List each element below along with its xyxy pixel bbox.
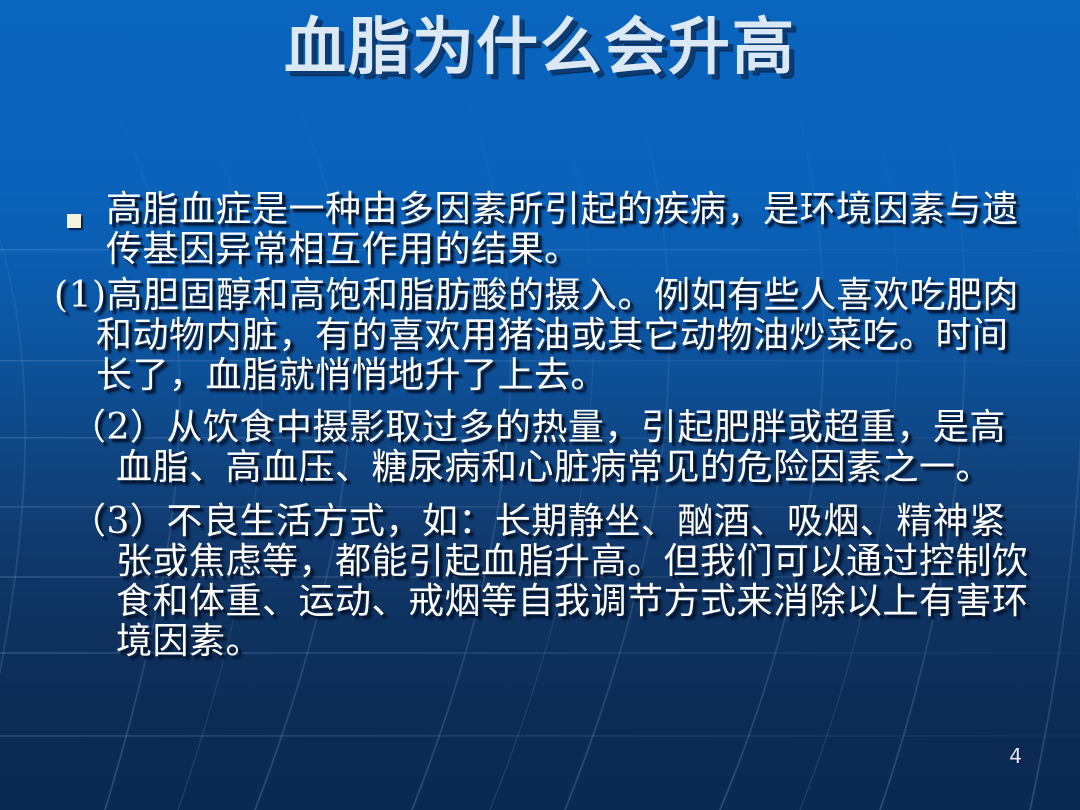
presentation-slide: 血脂为什么会升高 高脂血症是一种由多因素所引起的疾病，是环境因素与遗传基因异常相… [0, 0, 1080, 810]
bullet-list-item: 高脂血症是一种由多因素所引起的疾病，是环境因素与遗传基因异常相互作用的结果。 [54, 190, 1032, 270]
numbered-item-1: (1)高胆固醇和高饱和脂肪酸的摄入。例如有些人喜欢吃肥肉和动物内脏，有的喜欢用猪… [54, 276, 1032, 396]
slide-title: 血脂为什么会升高 [0, 14, 1080, 81]
numbered-item-3: （3）不良生活方式，如：长期静坐、酗酒、吸烟、精神紧张或焦虑等，都能引起血脂升高… [54, 502, 1032, 662]
slide-title-text: 血脂为什么会升高 [284, 14, 796, 81]
bullet-item-text: 高脂血症是一种由多因素所引起的疾病，是环境因素与遗传基因异常相互作用的结果。 [106, 189, 1019, 270]
numbered-item-3-text: （3）不良生活方式，如：长期静坐、酗酒、吸烟、精神紧张或焦虑等，都能引起血脂升高… [54, 502, 1032, 662]
numbered-item-1-text: (1)高胆固醇和高饱和脂肪酸的摄入。例如有些人喜欢吃肥肉和动物内脏，有的喜欢用猪… [54, 276, 1032, 396]
slide-page-number: 4 [1009, 744, 1022, 768]
square-bullet-icon [67, 214, 81, 228]
numbered-item-2-text: （2）从饮食中摄影取过多的热量，引起肥胖或超重，是高血脂、高血压、糖尿病和心脏病… [54, 408, 1032, 488]
numbered-item-2: （2）从饮食中摄影取过多的热量，引起肥胖或超重，是高血脂、高血压、糖尿病和心脏病… [54, 408, 1032, 488]
slide-body: 高脂血症是一种由多因素所引起的疾病，是环境因素与遗传基因异常相互作用的结果。 (… [54, 190, 1032, 664]
